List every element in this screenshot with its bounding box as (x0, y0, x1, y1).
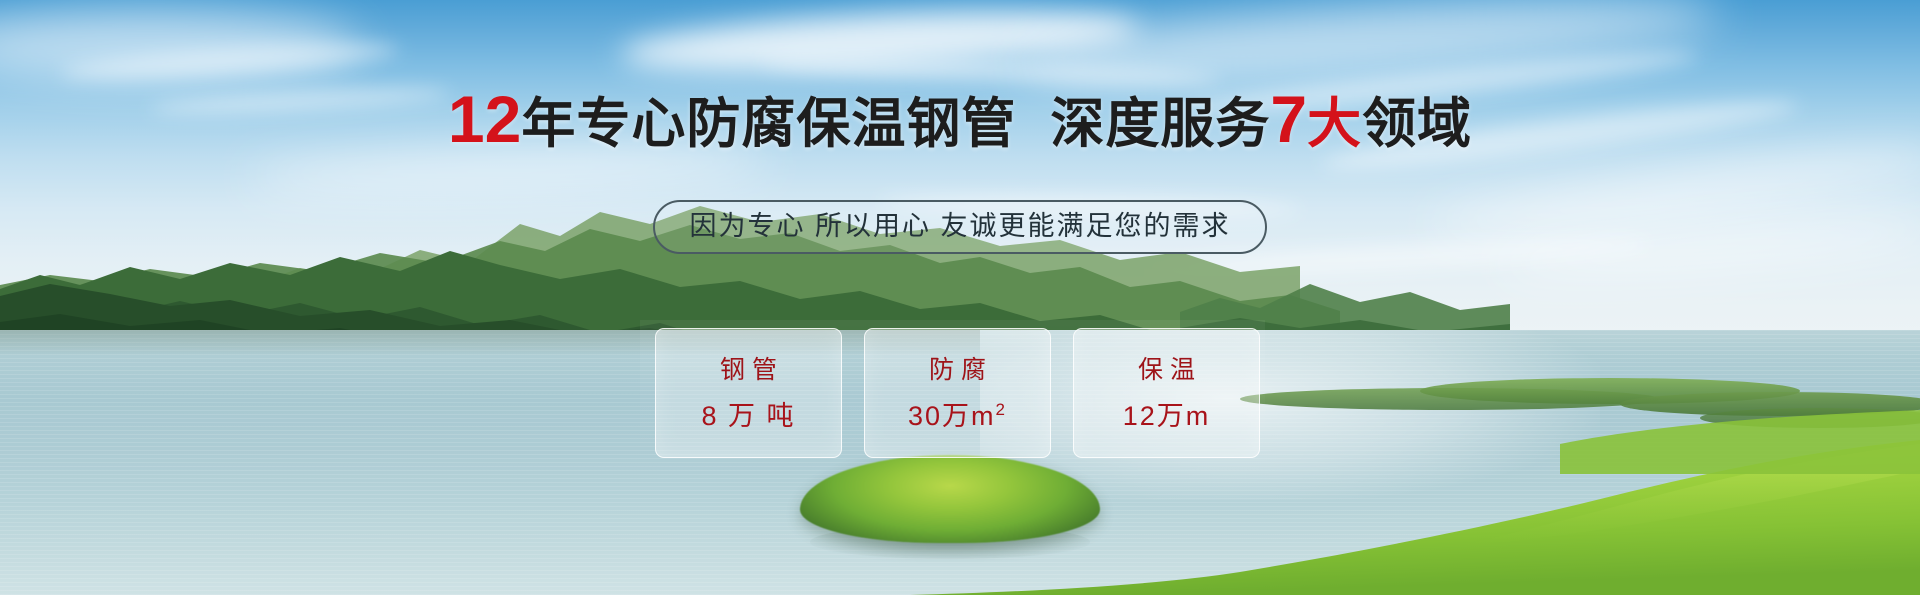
stat-value-main: 30万m (908, 401, 996, 431)
stat-card-steel-pipe[interactable]: 钢管 8 万 吨 (655, 328, 842, 458)
headline-number: 12 (448, 82, 521, 156)
hero-banner: 12年专心防腐保温钢管深度服务7大领域 因为专心 所以用心 友诚更能满足您的需求… (0, 0, 1920, 595)
headline-red-number: 7 (1270, 82, 1307, 156)
headline-part-two: 深度服务 (1050, 94, 1270, 154)
banner-subtitle-wrap: 因为专心 所以用心 友诚更能满足您的需求 (0, 200, 1920, 254)
stat-card-title: 防腐 (922, 354, 993, 386)
stat-card-title: 钢管 (713, 354, 784, 386)
stat-card-value: 8 万 吨 (701, 400, 795, 432)
stat-value-main: 12万m (1123, 401, 1211, 431)
stat-card-group: 钢管 8 万 吨 防腐 30万m2 保温 12万m (655, 328, 1260, 458)
sky-background (0, 0, 1920, 360)
headline-part-three: 领域 (1362, 94, 1472, 154)
banner-subtitle: 因为专心 所以用心 友诚更能满足您的需求 (653, 200, 1266, 254)
headline-red-char: 大 (1307, 94, 1362, 154)
stat-card-insulation[interactable]: 保温 12万m (1073, 328, 1260, 458)
stat-card-value: 12万m (1123, 400, 1211, 432)
headline-part-one: 年专心防腐保温钢管 (521, 94, 1016, 154)
banner-headline: 12年专心防腐保温钢管深度服务7大领域 (0, 88, 1920, 155)
stat-value-superscript: 2 (996, 400, 1007, 419)
stat-card-anticorrosion[interactable]: 防腐 30万m2 (864, 328, 1051, 458)
stat-card-title: 保温 (1131, 354, 1202, 386)
stat-value-main: 8 万 吨 (701, 401, 795, 431)
stat-card-value: 30万m2 (908, 400, 1007, 432)
